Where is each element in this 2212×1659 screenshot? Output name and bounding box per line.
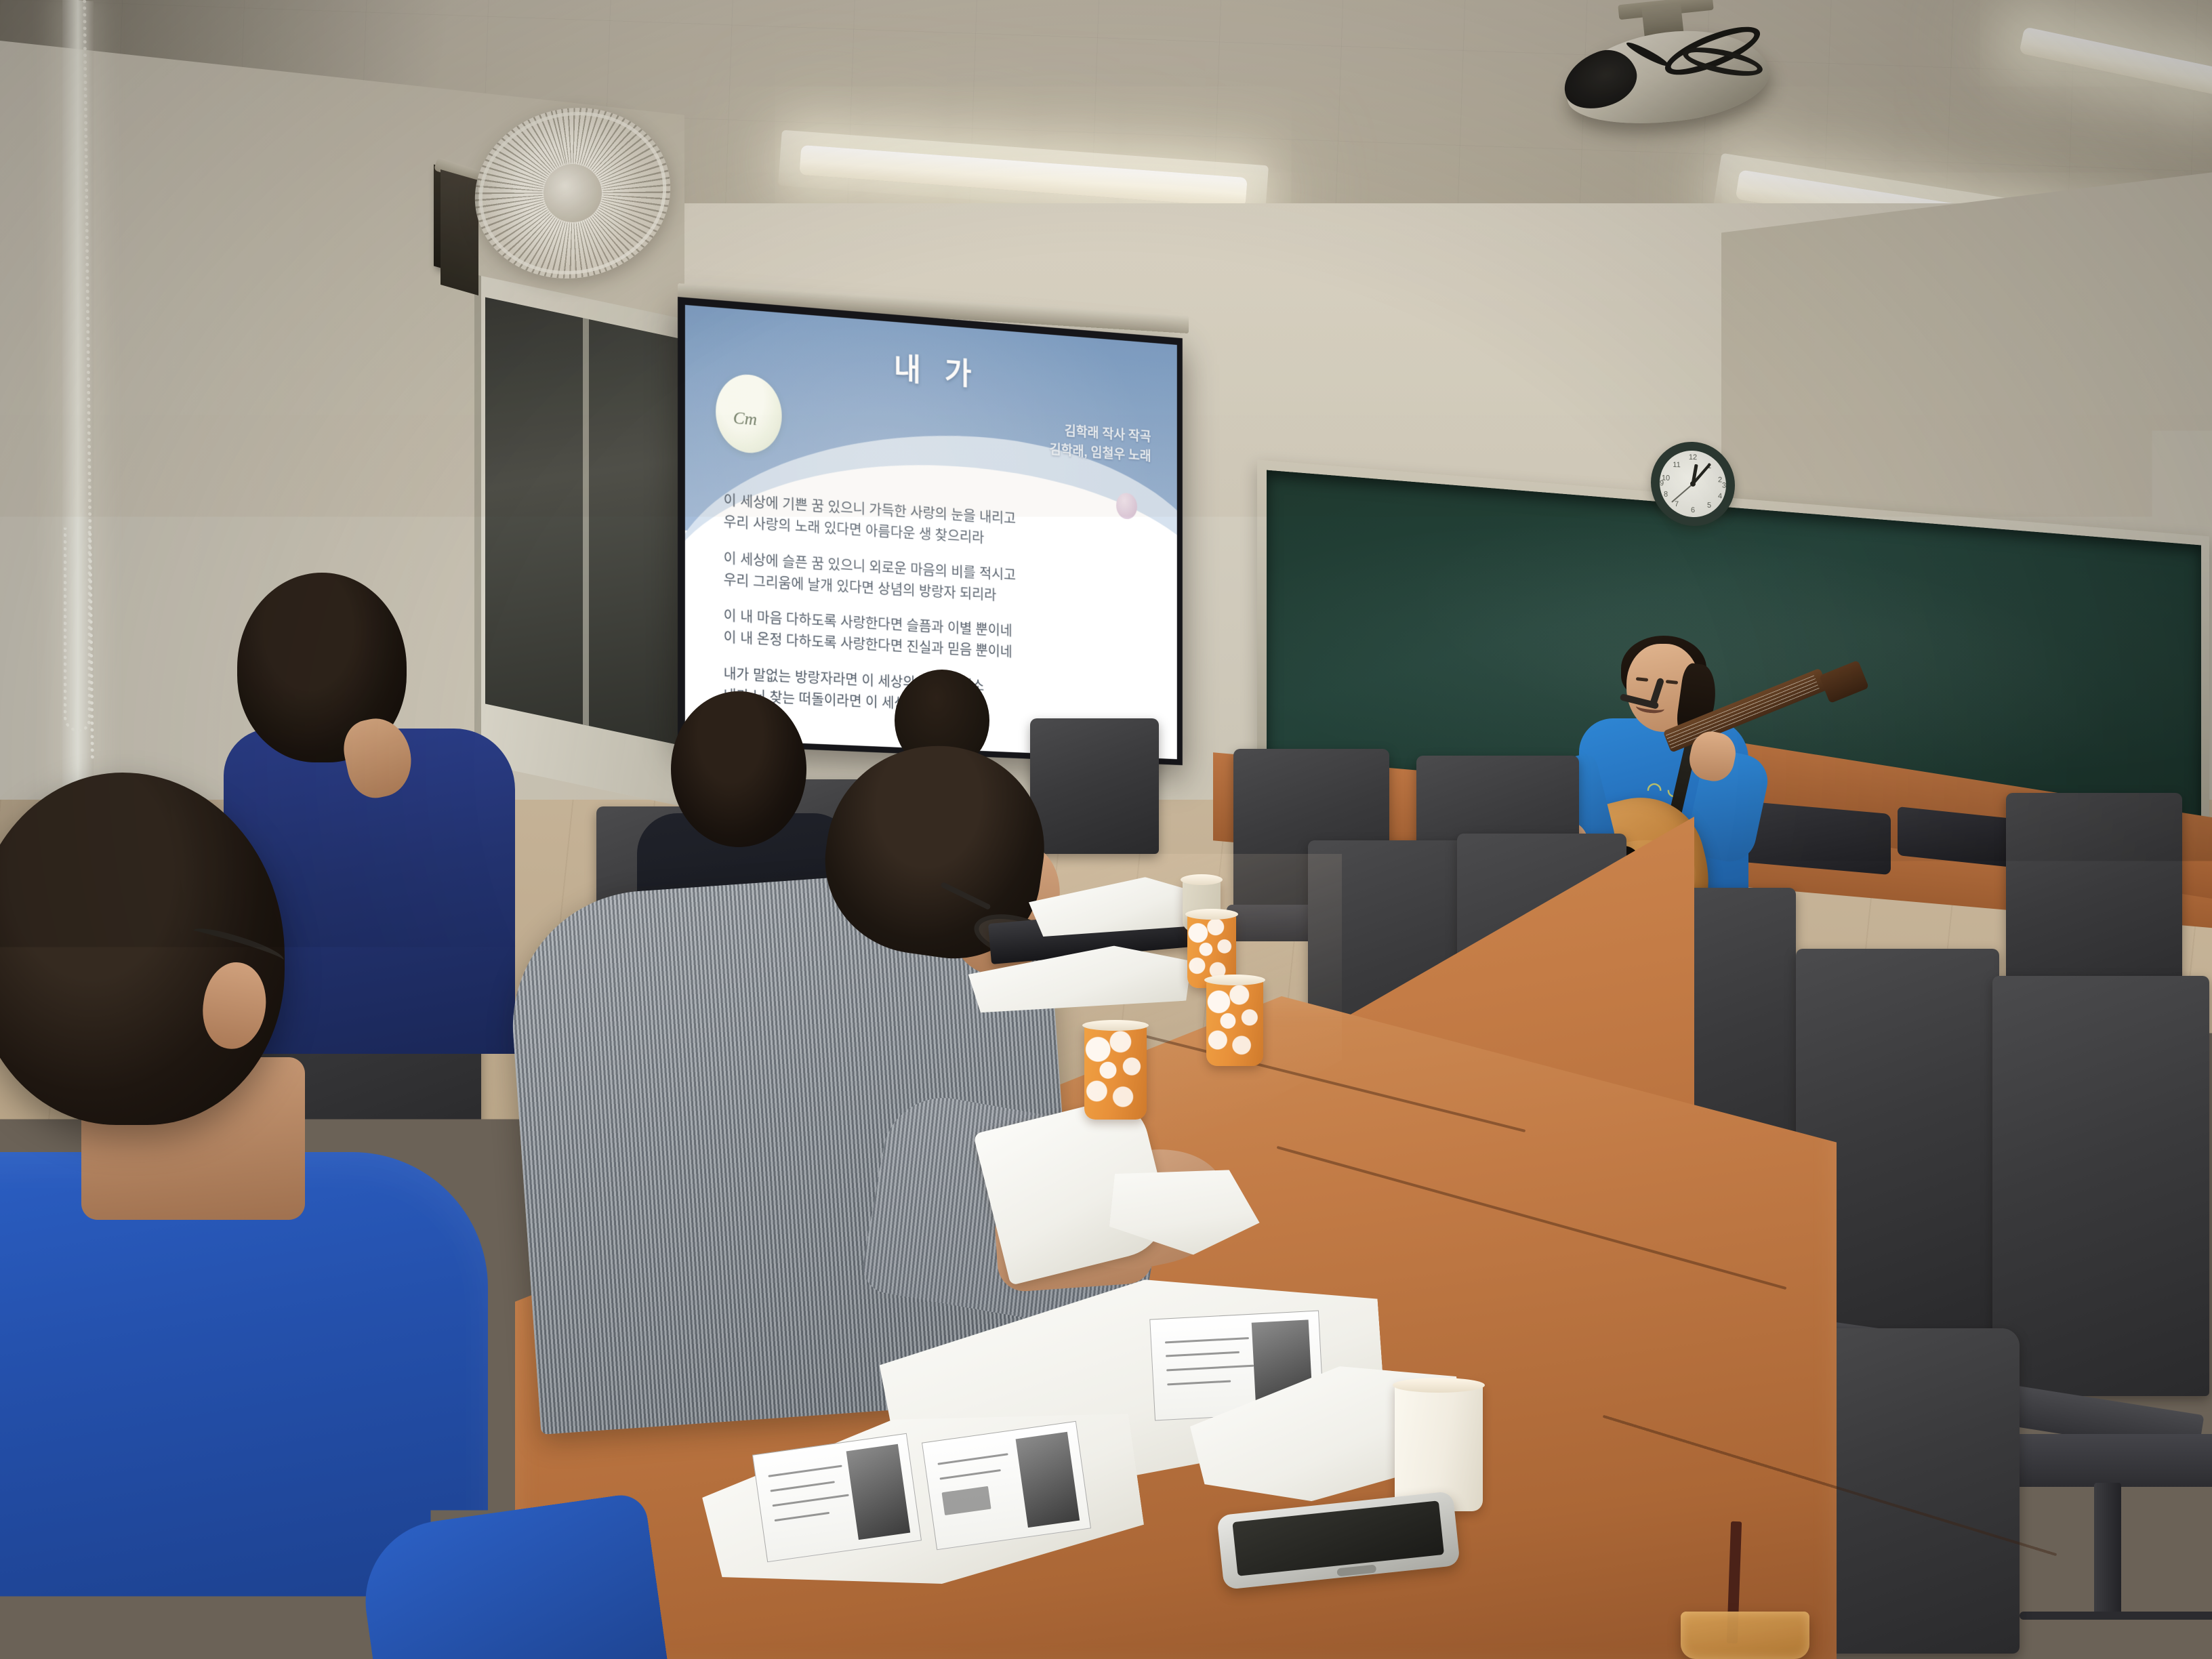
clock-face: 12 1 2 3 4 5 6 7 8 9 10 11 (1660, 449, 1726, 518)
thumbnail-text-line (773, 1494, 849, 1507)
chair-backrest (1992, 976, 2209, 1396)
slide-logo-monogram: Cm (733, 408, 757, 430)
lyric-stanza: 이 내 마음 다하도록 사랑한다면 슬픔과 이별 뿐이네 이 내 온정 다하도록… (724, 605, 1153, 670)
paper-cup-orange[interactable] (1084, 1025, 1147, 1120)
clock-center-pin (1690, 481, 1696, 487)
thumbnail-text-line (1165, 1337, 1249, 1343)
thumbnail-text-line (775, 1512, 830, 1521)
thumbnail-image (1015, 1431, 1080, 1528)
chair-post (2094, 1483, 2121, 1618)
phone-screen (1232, 1500, 1444, 1576)
handout-slide-thumbnail (922, 1421, 1091, 1550)
cup-rim (1185, 909, 1238, 920)
cup-rim (1393, 1378, 1485, 1393)
cup-rim (1204, 975, 1265, 985)
handout-slide-thumbnail (752, 1433, 922, 1562)
slide-credits: 김학래 작사 작곡 김학래, 임철우 노래 (1050, 420, 1151, 466)
clock-number: 3 (1691, 480, 1757, 491)
attendee-head (671, 691, 806, 847)
thumbnail-text-line (769, 1465, 842, 1477)
seminar-room-photo: 12 1 2 3 4 5 6 7 8 9 10 11 내 가 (0, 0, 2212, 1659)
thumbnail-block (942, 1486, 991, 1515)
thumbnail-text-line (940, 1469, 1002, 1480)
thumbnail-text-line (938, 1453, 1008, 1465)
thumbnail-text-line (1167, 1380, 1231, 1385)
thumbnail-text-line (1166, 1351, 1240, 1357)
iced-drink-cup[interactable] (1681, 1612, 1809, 1659)
thumbnail-image (846, 1443, 910, 1540)
chair-base (2020, 1612, 2212, 1620)
cup-rim (1181, 874, 1223, 885)
cup-rim (1082, 1020, 1149, 1031)
lyric-stanza: 이 세상에 슬픈 꿈 있으니 외로운 마음의 비를 적시고 우리 그리움에 날개… (724, 548, 1153, 615)
paper-cup-orange[interactable] (1206, 979, 1263, 1066)
thumbnail-text-line (1166, 1365, 1254, 1372)
fan-bracket (441, 169, 478, 295)
window-mullion (583, 318, 589, 726)
chair-backrest (1030, 718, 1159, 854)
blind-pull-chain-loop[interactable] (64, 527, 91, 733)
thumbnail-text-line (771, 1481, 835, 1492)
clock-number: 11 (1643, 459, 1710, 470)
